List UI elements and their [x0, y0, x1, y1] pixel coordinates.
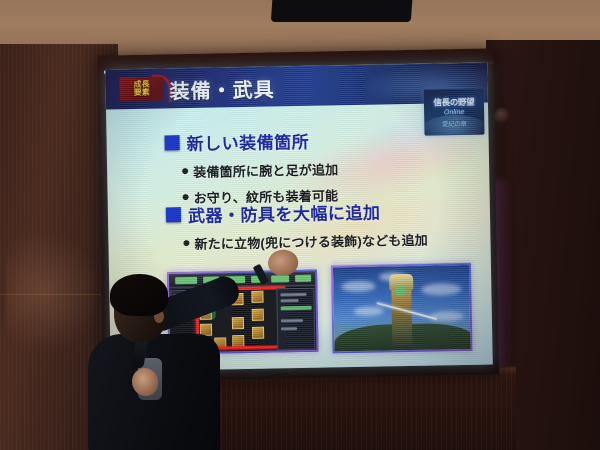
presenter-hair: [110, 274, 168, 316]
logo-subtitle: Online: [444, 109, 464, 116]
section-1-heading-row: 新しい装備箇所: [164, 127, 338, 155]
game-ui-right-panel: [276, 288, 315, 351]
logo-title: 信長の野望: [433, 96, 474, 109]
section-1-bullet-1-text: 装備箇所に腕と足が追加: [193, 159, 339, 181]
dot-bullet-icon: [183, 240, 189, 246]
presenter-mic-hand: [132, 368, 158, 396]
section-badge: 成長 要素: [119, 76, 163, 101]
section-2-heading-row: 武器・防具を大幅に追加: [166, 198, 428, 228]
section-1-heading: 新しい装備箇所: [186, 128, 309, 155]
badge-line-2: 要素: [134, 89, 150, 97]
samurai-face: [395, 286, 406, 296]
dot-bullet-icon: [182, 168, 188, 174]
slide-section-1: 新しい装備箇所 装備箇所に腕と足が追加 お守り、紋所も装着可能: [164, 127, 339, 207]
character-render-thumbnail: [331, 263, 473, 354]
section-1-bullet-1: 装備箇所に腕と足が追加: [182, 159, 339, 181]
logo-tagline: 愛紀の章: [442, 118, 467, 128]
conference-room-scene: 成長 要素 装備・武具 信長の野望 Online 愛紀の章 新しい装備箇所 装備…: [0, 0, 600, 450]
section-2-heading: 武器・防具を大幅に追加: [188, 199, 381, 228]
square-bullet-icon: [166, 207, 181, 222]
wall-fixture: [494, 108, 510, 124]
game-logo: 信長の野望 Online 愛紀の章: [424, 89, 485, 136]
slide-section-2: 武器・防具を大幅に追加 新たに立物(兜につける装飾)なども追加: [166, 198, 428, 254]
slide-title: 装備・武具: [169, 73, 275, 104]
section-2-bullet-1-text: 新たに立物(兜につける装飾)なども追加: [194, 230, 428, 253]
square-bullet-icon: [164, 135, 179, 150]
section-2-bullet-1: 新たに立物(兜につける装飾)なども追加: [183, 230, 428, 253]
ceiling-mounted-speaker: [271, 0, 413, 22]
presenter-person: [88, 272, 238, 450]
dot-bullet-icon: [183, 194, 189, 200]
